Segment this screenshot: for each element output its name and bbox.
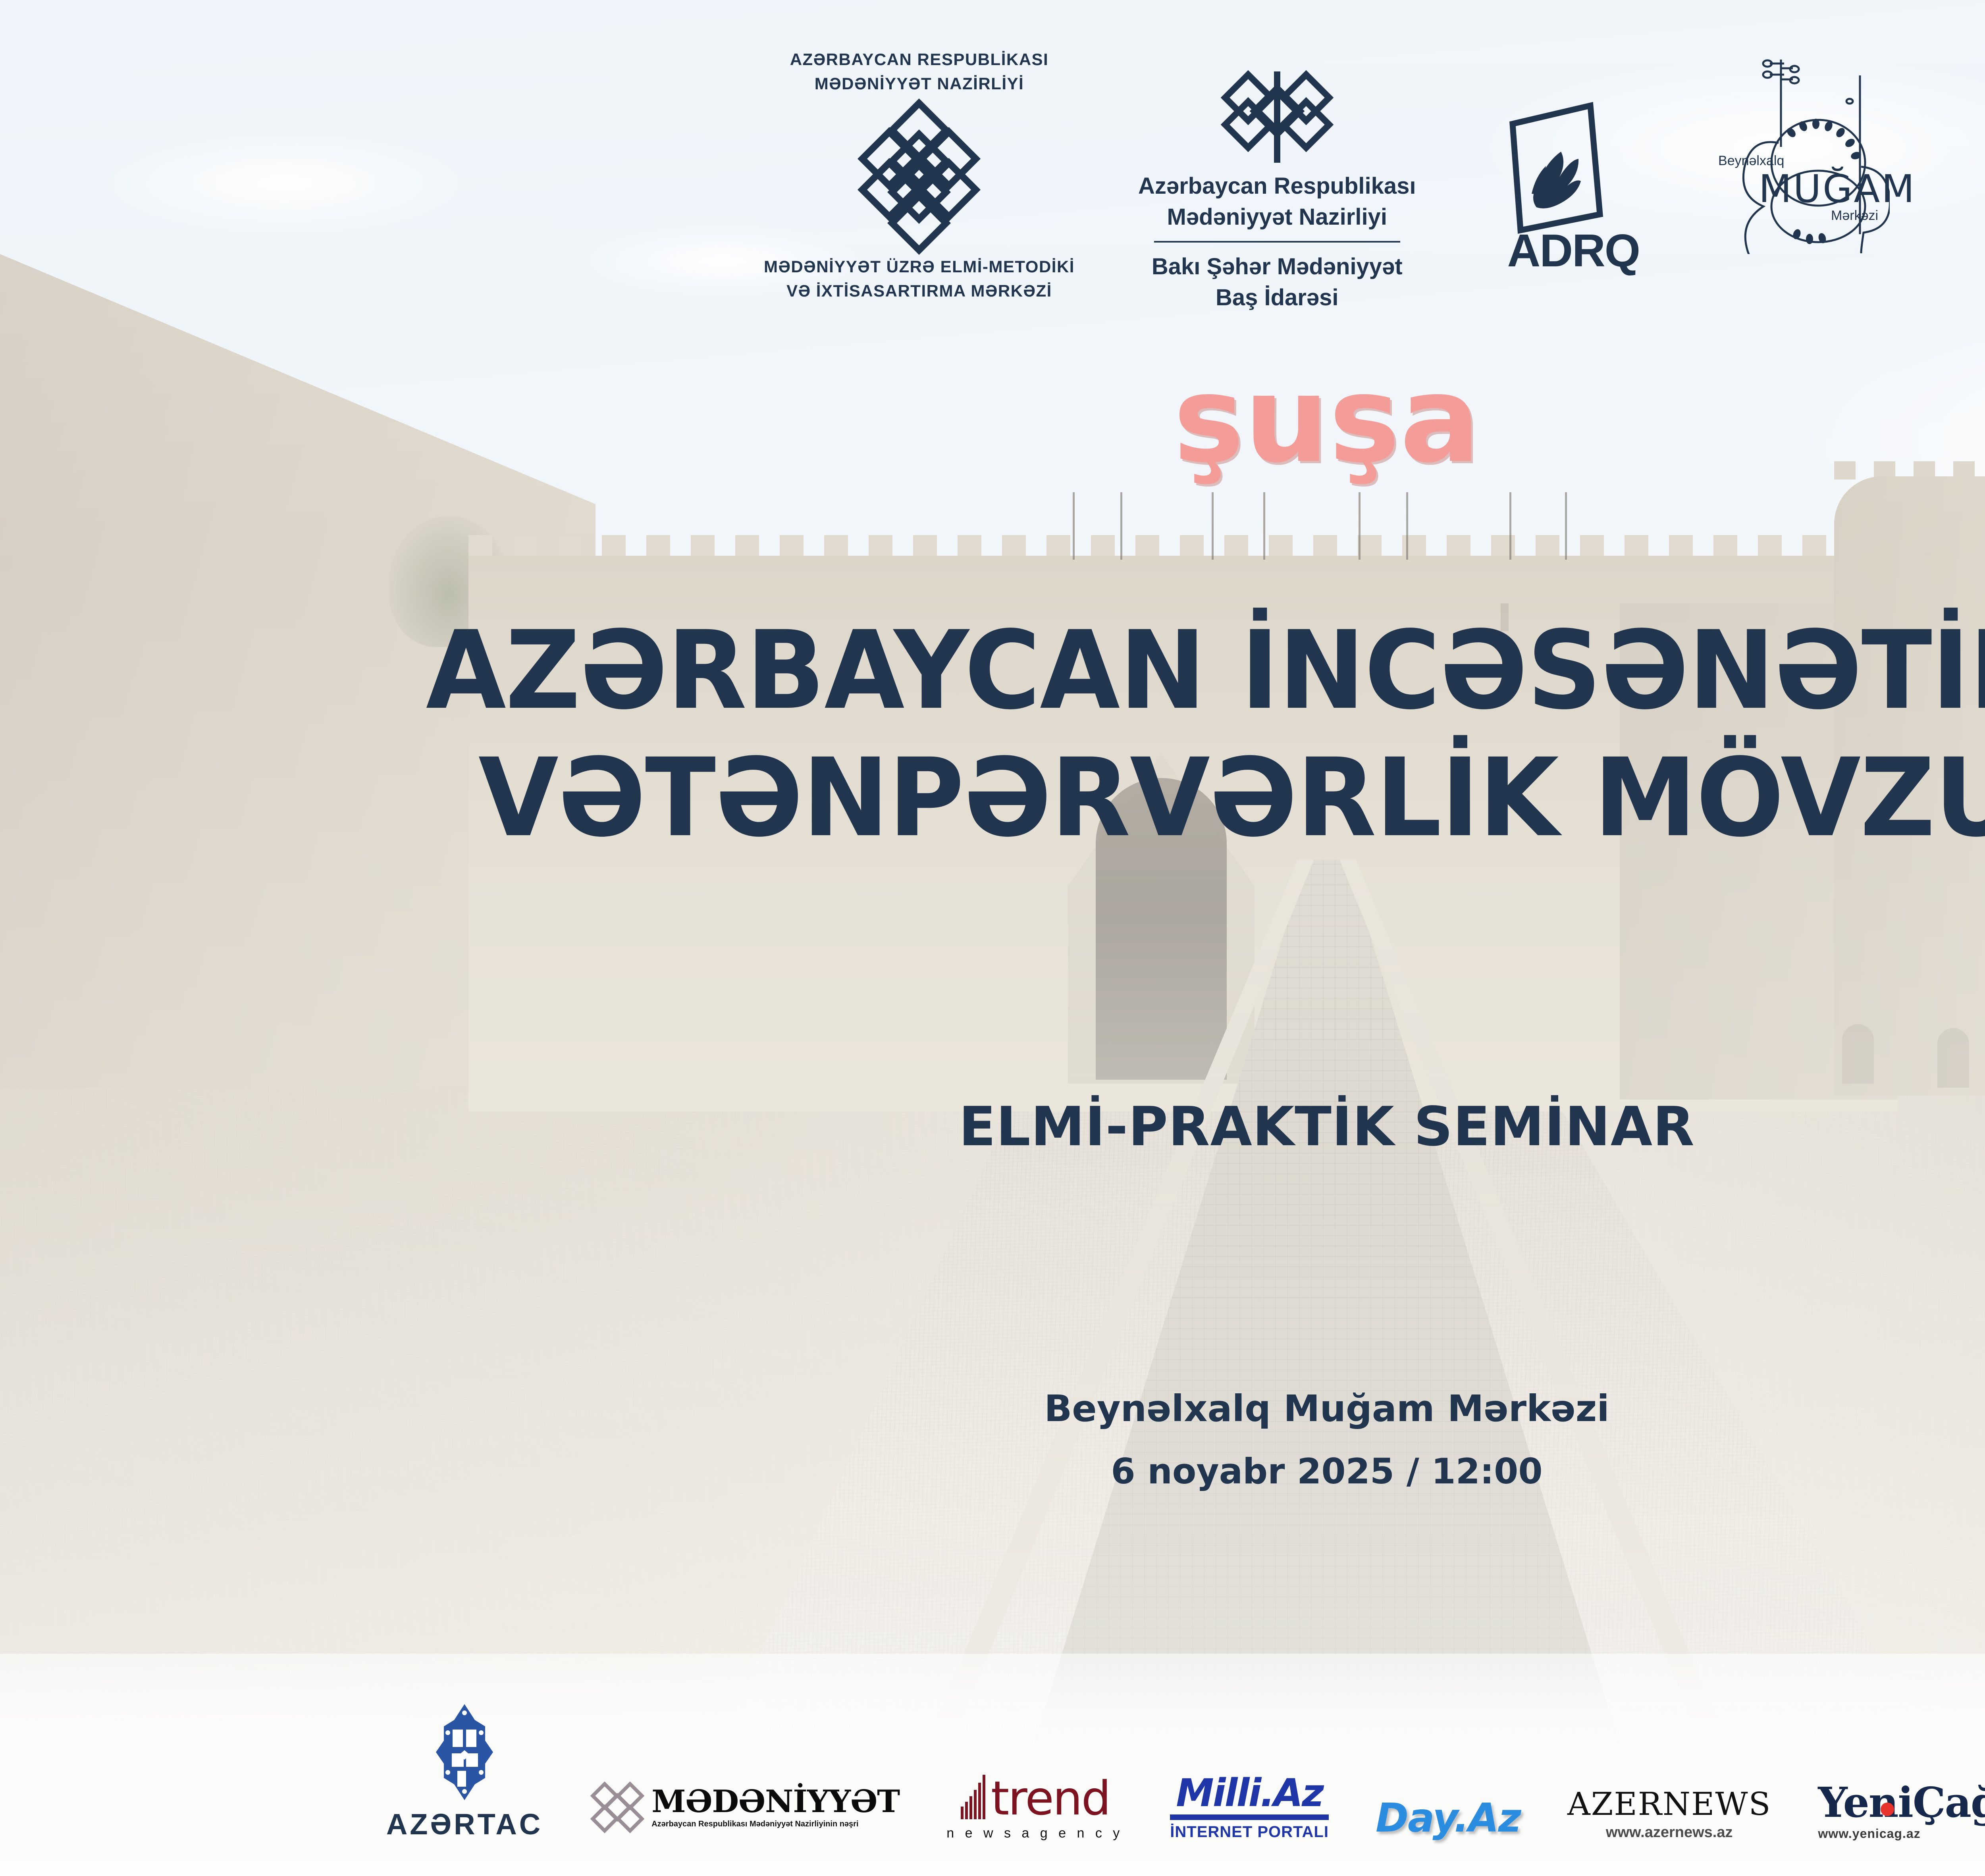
logo-caption-top: AZƏRBAYCAN RESPUBLİKASI MƏDƏNİYYƏT NAZİR… <box>790 48 1049 96</box>
event-datetime: 6 noyabr 2025 / 12:00 <box>0 1451 1985 1492</box>
footer-logo-milli-az[interactable]: Milli.Az İNTERNET PORTALI <box>1170 1775 1329 1841</box>
footer-logo-yenicag[interactable]: YeniÇağ www.yenicag.az <box>1818 1782 1985 1841</box>
yenicag-url: www.yenicag.az <box>1818 1826 1920 1841</box>
adrq-wordmark: ADRQ <box>1507 224 1640 277</box>
department-name: Bakı Şəhər Mədəniyyət Baş İdarəsi <box>1152 251 1403 314</box>
organizer-logo-bar: AZƏRBAYCAN RESPUBLİKASI MƏDƏNİYYƏT NAZİR… <box>0 48 1985 313</box>
title-line-2: VƏTƏNPƏRVƏRLİK MÖVZUSU <box>53 735 1985 862</box>
azernews-wordmark: AZERNEWS <box>1567 1788 1771 1820</box>
title-line-1: AZƏRBAYCAN İNCƏSƏNƏTİNDƏ <box>53 607 1985 735</box>
logo-elmi-metodiki-merkez: AZƏRBAYCAN RESPUBLİKASI MƏDƏNİYYƏT NAZİR… <box>764 48 1075 303</box>
yenicag-wordmark: YeniÇağ <box>1818 1782 1985 1823</box>
interlace-knot-icon <box>1212 64 1343 171</box>
milli-az-wordmark: Milli.Az <box>1176 1775 1323 1811</box>
ministry-name: Azərbaycan Respublikası Mədəniyyət Nazir… <box>1138 171 1416 233</box>
poster-subtitle: ELMİ-PRAKTİK SEMİNAR <box>0 1096 1985 1158</box>
adrq-frame-brush-icon <box>1500 95 1619 238</box>
azertac-star-icon <box>425 1703 504 1802</box>
logo-adrq: ADRQ <box>1479 48 1640 277</box>
divider <box>1170 1814 1329 1820</box>
logo-baki-seher-medeniyyet: Azərbaycan Respublikası Mədəniyyət Nazir… <box>1138 48 1416 313</box>
footer-logo-medeniyyet[interactable]: MƏDƏNİYYƏT Azərbaycan Respublikası Mədən… <box>590 1774 900 1841</box>
footer-logo-azertac[interactable]: AZƏRTAC <box>386 1703 543 1841</box>
logo-caption-bottom: MƏDƏNİYYƏT ÜZRƏ ELMİ-METODİKİ VƏ İXTİSAS… <box>764 255 1075 303</box>
poster-title: AZƏRBAYCAN İNCƏSƏNƏTİNDƏ VƏTƏNPƏRVƏRLİK … <box>0 607 1985 862</box>
footer-logo-azernews[interactable]: AZERNEWS www.azernews.az <box>1567 1788 1771 1841</box>
azertac-wordmark: AZƏRTAC <box>386 1807 543 1841</box>
day-az-wordmark: Day.Az <box>1376 1795 1521 1841</box>
ornament-knot-icon <box>834 96 1004 255</box>
trend-wordmark: trend <box>991 1777 1110 1819</box>
media-partner-logo-bar: AZƏRTAC MƏDƏNİYYƏT Azərbaycan Respublika… <box>0 1703 1985 1841</box>
footer-logo-day-az[interactable]: Day.Az <box>1376 1795 1521 1841</box>
azernews-url: www.azernews.az <box>1606 1824 1733 1841</box>
susa-sign-posts <box>1001 492 1652 560</box>
trend-tagline: n e w s a g e n c y <box>946 1826 1123 1841</box>
milli-az-tagline: İNTERNET PORTALI <box>1170 1823 1329 1841</box>
footer-logo-trend[interactable]: trend n e w s a g e n c y <box>946 1772 1123 1841</box>
medeniyyet-knot-icon <box>590 1774 645 1841</box>
susa-sign-text: şuşa <box>1173 371 1480 469</box>
event-venue: Beynəlxalq Muğam Mərkəzi <box>0 1387 1985 1430</box>
logo-beynelxalq-mugam-merkezi: Beynəlxalq MUĞAM Mərkəzi <box>1703 48 1890 254</box>
medeniyyet-wordmark: MƏDƏNİYYƏT <box>651 1786 900 1817</box>
trend-bars-icon <box>960 1772 989 1819</box>
mugam-wordmark: MUĞAM <box>1759 167 1916 211</box>
divider <box>1154 241 1400 243</box>
medeniyyet-tagline: Azərbaycan Respublikası Mədəniyyət Nazir… <box>651 1820 858 1829</box>
mugam-caption-bottom: Mərkəzi <box>1831 208 1878 223</box>
susa-landmark-sign: şuşa <box>1173 371 1480 469</box>
yenicag-dot-icon <box>1881 1803 1894 1816</box>
